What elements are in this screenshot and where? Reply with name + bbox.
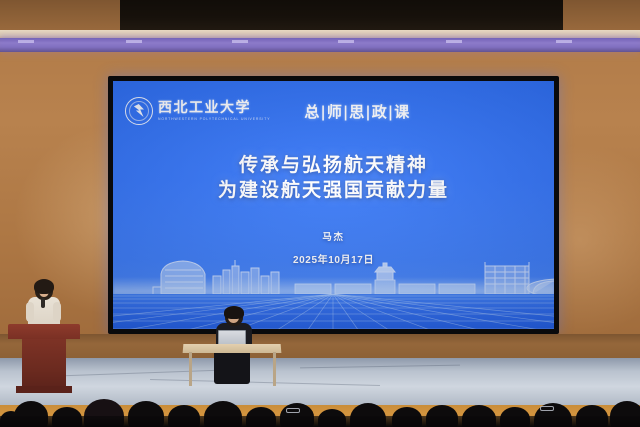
program-title: 总|师|思|政|课	[304, 101, 410, 122]
speaker-hair	[34, 279, 54, 294]
microphone-icon	[41, 298, 45, 308]
audience-glasses-icon	[540, 406, 554, 411]
bottom-shadow	[0, 416, 640, 427]
perspective-grid-floor	[113, 294, 554, 329]
led-dash	[338, 40, 354, 43]
university-name-en: NORTHWESTERN POLYTECHNICAL UNIVERSITY	[158, 118, 270, 121]
speaker-arm-left	[26, 302, 34, 322]
slide-header: 西北工业大学 NORTHWESTERN POLYTECHNICAL UNIVER…	[125, 97, 543, 125]
university-name-block: 西北工业大学 NORTHWESTERN POLYTECHNICAL UNIVER…	[158, 101, 270, 121]
led-dash	[556, 40, 572, 43]
speaker-arm-right	[53, 302, 61, 322]
presenter-hair	[224, 306, 244, 319]
ceiling-left	[0, 0, 124, 32]
slide-title: 传承与弘扬航天精神 为建设航天强国贡献力量	[113, 153, 554, 204]
led-dash	[446, 40, 462, 43]
table-top	[183, 344, 282, 353]
ceiling-led-strip	[0, 38, 640, 52]
university-name-cn: 西北工业大学	[158, 101, 270, 115]
university-seal-icon	[125, 97, 153, 125]
lecture-hall-scene: 西北工业大学 NORTHWESTERN POLYTECHNICAL UNIVER…	[0, 0, 640, 427]
slide-title-line-2: 为建设航天强国贡献力量	[113, 178, 554, 203]
led-dash	[18, 40, 34, 43]
led-dash	[126, 40, 142, 43]
podium-top	[8, 324, 80, 339]
ceiling-dark-panel	[120, 0, 563, 34]
led-dash	[232, 40, 248, 43]
podium-speaker	[22, 280, 66, 328]
audience-glasses-icon	[286, 408, 300, 413]
led-screen: 西北工业大学 NORTHWESTERN POLYTECHNICAL UNIVER…	[113, 81, 554, 329]
ceiling-right	[560, 0, 640, 32]
slide-speaker-name: 马杰	[113, 229, 554, 243]
slide-title-line-1: 传承与弘扬航天精神	[113, 153, 554, 178]
